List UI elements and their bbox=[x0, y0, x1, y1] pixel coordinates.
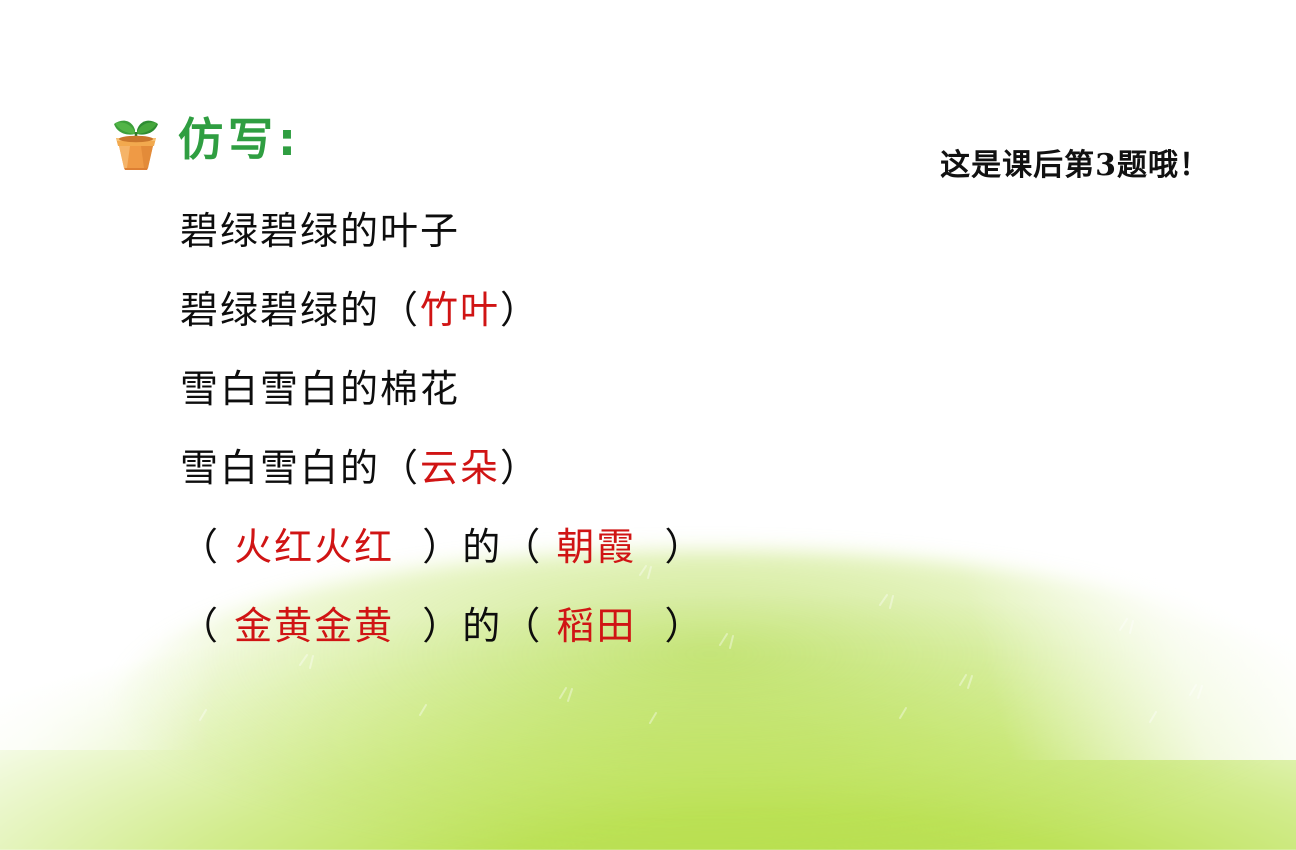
exercise-note: 这是课后第3题哦！ bbox=[940, 140, 1210, 184]
sentence-text: ） bbox=[636, 595, 704, 650]
answer-text: 朝霞 bbox=[556, 516, 636, 571]
sentence-line-4: 雪白雪白的（云朵） bbox=[180, 425, 1080, 504]
answer-text: 稻田 bbox=[556, 595, 636, 650]
sentence-text: 雪白雪白的棉花 bbox=[180, 358, 460, 413]
sentence-text: 碧绿碧绿的叶子 bbox=[180, 200, 460, 255]
answer-text: 竹叶 bbox=[420, 279, 500, 334]
sentence-text: ）的（ bbox=[394, 516, 556, 571]
answer-text: 金黄金黄 bbox=[234, 595, 394, 650]
sentence-list: 碧绿碧绿的叶子 碧绿碧绿的（竹叶） 雪白雪白的棉花 雪白雪白的（云朵） （ 火红… bbox=[180, 188, 1080, 662]
section-header: 仿写: bbox=[108, 108, 301, 170]
sentence-text: ） bbox=[636, 516, 704, 571]
answer-text: 云朵 bbox=[420, 437, 500, 492]
sentence-line-2: 碧绿碧绿的（竹叶） bbox=[180, 267, 1080, 346]
sentence-line-6: （ 金黄金黄 ）的（ 稻田 ） bbox=[180, 583, 1080, 662]
seedling-pot-icon bbox=[108, 108, 164, 170]
sentence-line-3: 雪白雪白的棉花 bbox=[180, 346, 1080, 425]
sentence-text: （ bbox=[180, 595, 234, 650]
sentence-text: 碧绿碧绿的（ bbox=[180, 279, 420, 334]
sentence-text: ）的（ bbox=[394, 595, 556, 650]
sentence-text: ） bbox=[500, 437, 540, 492]
sentence-text: 雪白雪白的（ bbox=[180, 437, 420, 492]
sentence-line-1: 碧绿碧绿的叶子 bbox=[180, 188, 1080, 267]
sentence-text: ） bbox=[500, 279, 540, 334]
sentence-line-5: （ 火红火红 ）的（ 朝霞 ） bbox=[180, 504, 1080, 583]
answer-text: 火红火红 bbox=[234, 516, 394, 571]
page-title: 仿写: bbox=[178, 117, 301, 162]
sentence-text: （ bbox=[180, 516, 234, 571]
